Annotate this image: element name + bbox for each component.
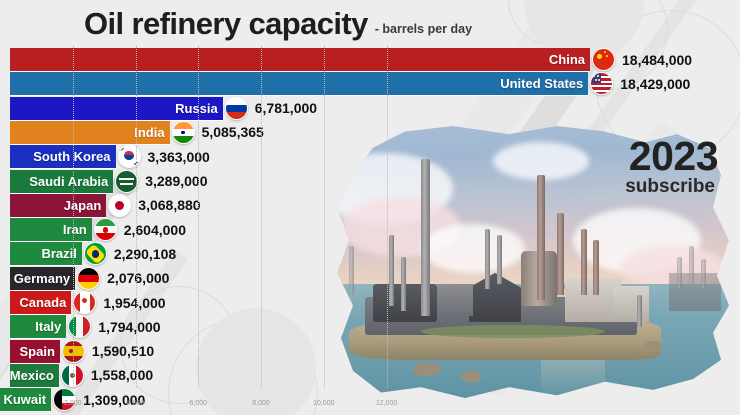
bar-canada[interactable]: Canada — [10, 291, 71, 314]
bar-country-label: Iran — [63, 222, 87, 237]
axis-tick-label: 4,000 — [127, 400, 145, 407]
gridline — [324, 46, 325, 388]
bar-spain[interactable]: Spain — [10, 340, 60, 363]
axis-tick-label: 6,000 — [190, 400, 208, 407]
flag-iran-icon — [94, 218, 117, 241]
gridline — [136, 46, 137, 388]
bar-chart-race: 2,0004,0006,0008,00010,00012,000China18,… — [0, 0, 740, 415]
bar-value-label: 1,954,000 — [103, 295, 165, 311]
bar-row[interactable]: Iran2,604,000 — [10, 218, 186, 241]
bar-value-label: 2,076,000 — [107, 270, 169, 286]
flag-canada-icon — [73, 291, 96, 314]
bar-saudi-arabia[interactable]: Saudi Arabia — [10, 170, 113, 193]
bar-germany[interactable]: Germany — [10, 267, 75, 290]
bar-row[interactable]: Japan3,068,880 — [10, 194, 201, 217]
bar-row[interactable]: Canada1,954,000 — [10, 291, 166, 314]
bar-value-label: 2,604,000 — [124, 222, 186, 238]
bar-country-label: Russia — [175, 101, 218, 116]
bar-row[interactable]: South Korea3,363,000 — [10, 145, 210, 168]
gridline — [73, 46, 74, 388]
axis-tick-label: 10,000 — [313, 400, 334, 407]
bar-united-states[interactable]: United States — [10, 72, 588, 95]
bar-value-label: 6,781,000 — [255, 100, 317, 116]
bar-country-label: China — [549, 52, 585, 67]
bar-china[interactable]: China — [10, 48, 590, 71]
bar-row[interactable]: Brazil2,290,108 — [10, 242, 176, 265]
bar-value-label: 5,085,365 — [202, 124, 264, 140]
bar-row[interactable]: Saudi Arabia3,289,000 — [10, 170, 208, 193]
chart-subtitle: - barrels per day — [375, 22, 472, 39]
axis-tick-label: 8,000 — [252, 400, 270, 407]
flag-japan-icon — [108, 194, 131, 217]
bar-country-label: Canada — [19, 295, 66, 310]
gridline — [261, 46, 262, 388]
bar-iran[interactable]: Iran — [10, 218, 92, 241]
bar-italy[interactable]: Italy — [10, 315, 66, 338]
axis-tick-label: 2,000 — [64, 400, 82, 407]
bar-value-label: 18,484,000 — [622, 52, 692, 68]
flag-united-states-icon — [590, 72, 613, 95]
bar-country-label: Saudi Arabia — [29, 174, 108, 189]
flag-germany-icon — [77, 267, 100, 290]
bar-row[interactable]: China18,484,000 — [10, 48, 692, 71]
bar-country-label: Spain — [20, 344, 55, 359]
bar-mexico[interactable]: Mexico — [10, 364, 59, 387]
bar-row[interactable]: Russia6,781,000 — [10, 97, 317, 120]
bar-india[interactable]: India — [10, 121, 170, 144]
chart-header: Oil refinery capacity - barrels per day — [84, 8, 472, 39]
bar-row[interactable]: Mexico1,558,000 — [10, 364, 153, 387]
flag-russia-icon — [225, 97, 248, 120]
bar-kuwait[interactable]: Kuwait — [0, 388, 51, 411]
page-title: Oil refinery capacity — [84, 8, 368, 39]
bar-value-label: 3,068,880 — [138, 197, 200, 213]
flag-china-icon — [592, 48, 615, 71]
bar-country-label: Kuwait — [3, 392, 46, 407]
flag-italy-icon — [68, 315, 91, 338]
bar-row[interactable]: Spain1,590,510 — [10, 340, 154, 363]
year-counter: 2023 — [629, 136, 718, 177]
gridline — [387, 46, 388, 388]
bar-country-label: India — [134, 125, 164, 140]
bar-value-label: 1,558,000 — [91, 367, 153, 383]
bar-south-korea[interactable]: South Korea — [10, 145, 116, 168]
bar-value-label: 1,794,000 — [98, 319, 160, 335]
flag-brazil-icon — [84, 242, 107, 265]
bar-japan[interactable]: Japan — [10, 194, 106, 217]
subscribe-label: subscribe — [625, 176, 715, 198]
bar-row[interactable]: Italy1,794,000 — [10, 315, 161, 338]
flag-south-korea-icon — [118, 145, 141, 168]
bar-row[interactable]: United States18,429,000 — [10, 72, 690, 95]
flag-india-icon — [172, 121, 195, 144]
bar-country-label: Brazil — [41, 246, 76, 261]
bar-value-label: 2,290,108 — [114, 246, 176, 262]
axis-tick-label: 12,000 — [376, 400, 397, 407]
bar-country-label: Germany — [14, 271, 70, 286]
bar-row[interactable]: India5,085,365 — [10, 121, 264, 144]
bar-country-label: Japan — [64, 198, 102, 213]
bar-country-label: Italy — [35, 319, 61, 334]
bar-country-label: United States — [500, 76, 583, 91]
bar-brazil[interactable]: Brazil — [10, 242, 82, 265]
bar-value-label: 3,363,000 — [148, 149, 210, 165]
bar-row[interactable]: Germany2,076,000 — [10, 267, 169, 290]
bar-value-label: 18,429,000 — [620, 76, 690, 92]
gridline — [198, 46, 199, 388]
bar-value-label: 1,590,510 — [92, 343, 154, 359]
bar-russia[interactable]: Russia — [10, 97, 223, 120]
bar-country-label: Mexico — [10, 368, 54, 383]
